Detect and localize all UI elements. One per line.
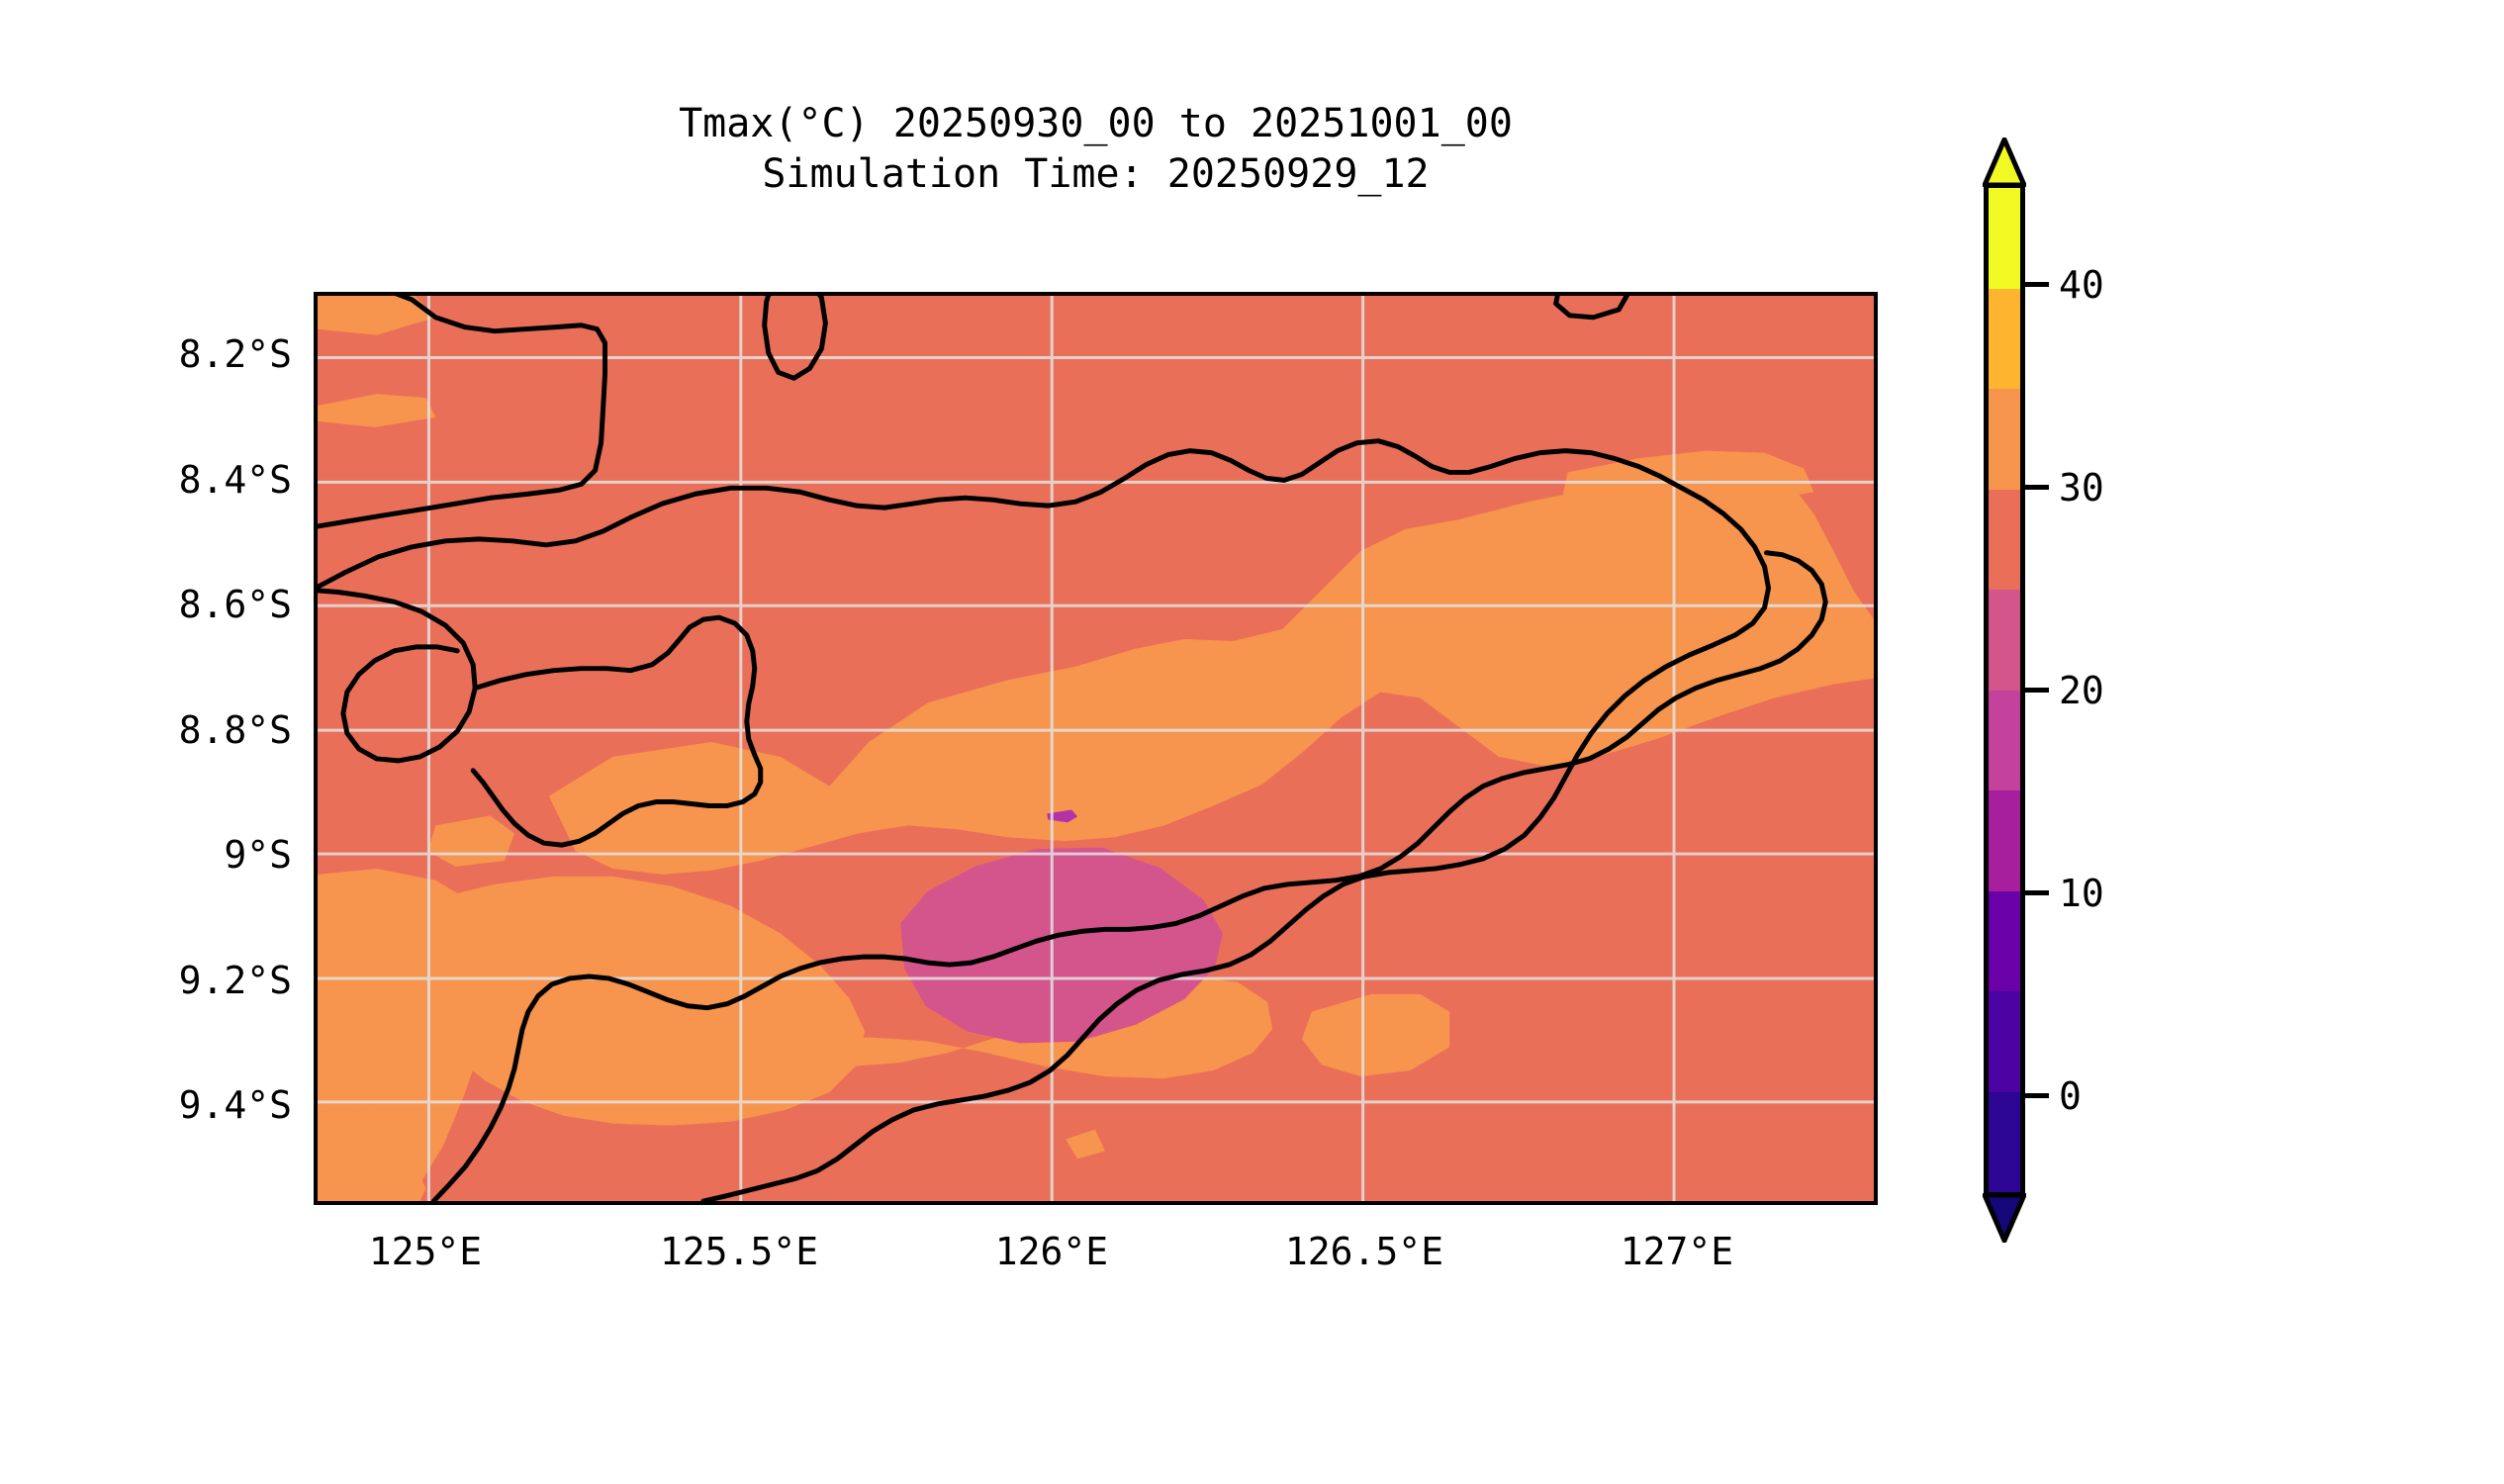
colorbar-tick-label-30: 30 <box>2059 466 2104 510</box>
colorbar-tick-10 <box>2025 890 2049 895</box>
colorbar-band-0-5 <box>1989 991 2020 1092</box>
colorbar-band-15-20 <box>1989 691 2020 791</box>
y-tick-label-1: 8.4°S <box>64 458 292 502</box>
y-tick-label-2: 8.6°S <box>64 583 292 626</box>
colorbar-tick-label-20: 20 <box>2059 669 2104 712</box>
x-tick-label-4: 127°E <box>1529 1230 1825 1273</box>
colorbar-tick-label-10: 10 <box>2059 872 2104 915</box>
colorbar-band-20-25 <box>1989 590 2020 691</box>
colorbar-band-5-10 <box>1989 891 2020 992</box>
colorbar-band-30-35 <box>1989 389 2020 490</box>
colorbar-tick-0 <box>2025 1093 2049 1098</box>
colorbar[interactable]: 40 30 20 10 0 <box>1984 183 2025 1197</box>
colorbar-tick-30 <box>2025 485 2049 490</box>
x-tick-label-3: 126.5°E <box>1216 1230 1513 1273</box>
map-axes <box>314 292 1878 1205</box>
y-tick-label-3: 8.8°S <box>64 708 292 752</box>
page-title: Tmax(°C) 20250930_00 to 20251001_00 Simu… <box>314 99 1878 200</box>
y-tick-label-6: 9.4°S <box>64 1083 292 1127</box>
colorbar-tick-20 <box>2025 688 2049 693</box>
y-tick-label-4: 9°S <box>64 833 292 877</box>
colorbar-tick-40 <box>2025 282 2049 287</box>
x-tick-label-2: 126°E <box>903 1230 1200 1273</box>
title-line-2: Simulation Time: 20250929_12 <box>314 149 1878 200</box>
colorbar-band-35-40 <box>1989 289 2020 390</box>
y-tick-label-0: 8.2°S <box>64 332 292 376</box>
map-contour-area <box>318 296 1874 1201</box>
colorbar-band-minus5-0 <box>1989 1092 2020 1193</box>
colorbar-tick-label-0: 0 <box>2059 1074 2082 1118</box>
colorbar-tick-label-40: 40 <box>2059 263 2104 307</box>
colorbar-band-40-45 <box>1989 188 2020 289</box>
figure-canvas: Tmax(°C) 20250930_00 to 20251001_00 Simu… <box>0 0 2504 1484</box>
x-tick-label-0: 125°E <box>277 1230 574 1273</box>
colorbar-extend-top-arrow <box>1983 138 2026 187</box>
colorbar-gradient[interactable] <box>1984 183 2025 1197</box>
y-tick-label-5: 9.2°S <box>64 959 292 1002</box>
colorbar-band-10-15 <box>1989 790 2020 891</box>
contour-fill-svg <box>318 296 1874 1201</box>
x-tick-label-1: 125.5°E <box>591 1230 887 1273</box>
colorbar-extend-bottom-arrow <box>1983 1193 2026 1243</box>
colorbar-band-25-30 <box>1989 490 2020 591</box>
title-line-1: Tmax(°C) 20250930_00 to 20251001_00 <box>314 99 1878 149</box>
